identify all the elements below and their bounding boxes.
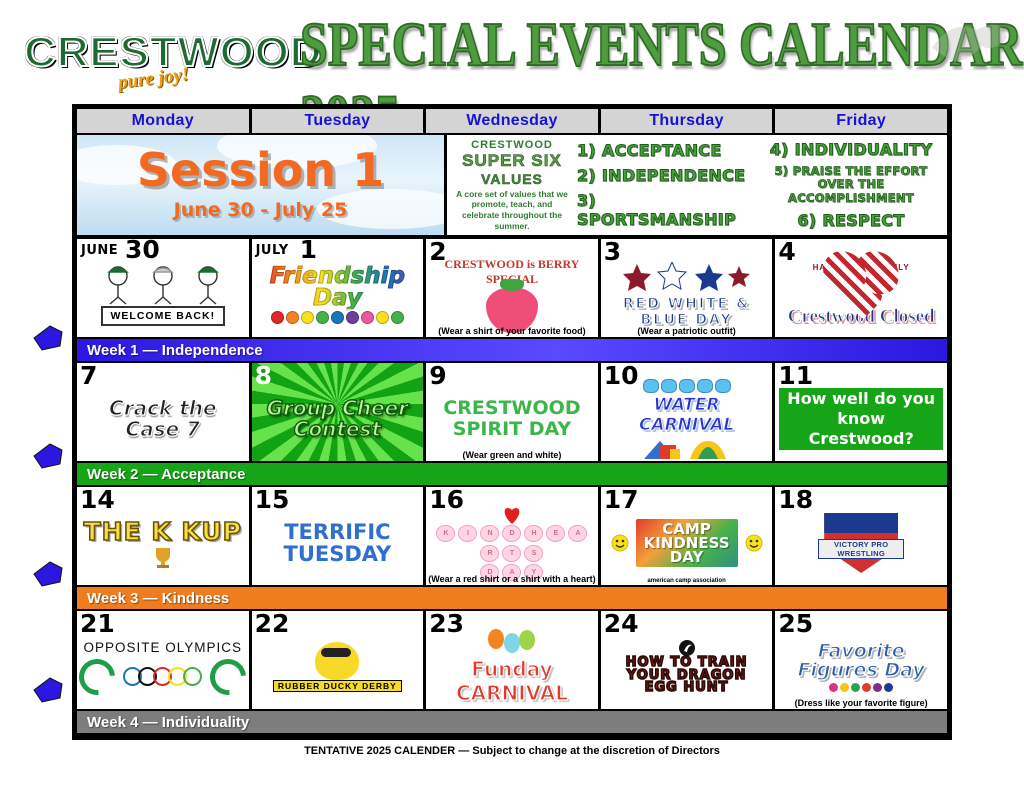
friendship-day-title: Friendship Day (256, 266, 420, 310)
page-header: CRESTWOOD pure joy! SPECIAL EVENTS CALEN… (0, 0, 1024, 100)
week-row-4: 21 OPPOSITE OLYMPICS 22 (75, 611, 949, 709)
day-cell-july-18[interactable]: 18 VICTORY PRO WRESTLING (775, 487, 947, 585)
values-logo-line2: SUPER SIX (453, 151, 571, 171)
column-header-tuesday: Tuesday (252, 109, 424, 133)
day-artwork-group-cheer: Group Cheer Contest (252, 377, 424, 461)
week-band-4: Week 4 — Individuality (77, 711, 947, 733)
day-number: 30 (125, 239, 160, 262)
day-artwork-berry-special: CRESTWOOD is BERRY SPECIAL (426, 253, 598, 337)
recycle-arrow-icon-left (77, 651, 123, 702)
day-artwork-crack-the-case: Crack the Case 7 (77, 377, 249, 461)
side-tag-icon-2 (30, 438, 66, 472)
week-row-2: 7 Crack the Case 7 8 Group Cheer Contest… (75, 363, 949, 461)
day-cell-july-16[interactable]: 16 KIND HEARTS DAY KIND HEAR TS DAY (Wea… (426, 487, 598, 585)
banner-row: Session 1 June 30 - July 25 CRESTWOOD SU… (75, 133, 949, 237)
day-cell-july-22[interactable]: 22 RUBBER DUCKY DERBY (252, 611, 424, 709)
day-number: 14 (80, 487, 115, 512)
week-band-2: Week 2 — Acceptance (77, 463, 947, 485)
day-cell-july-1[interactable]: JULY 1 Friendship Day (252, 239, 424, 337)
side-tag-icon-3 (30, 556, 66, 590)
smiley-icon-left (610, 533, 630, 553)
k-kup-title: THE K KUP (84, 517, 242, 546)
value-item-2: 2) INDEPENDENCE (577, 166, 757, 185)
day-number: 18 (778, 487, 813, 512)
day-note: (Wear a shirt of your favorite food) (426, 326, 598, 336)
day-cell-july-2[interactable]: 2 CRESTWOOD is BERRY SPECIAL (Wear a shi… (426, 239, 598, 337)
values-logo-line1: CRESTWOOD (453, 139, 571, 151)
day-artwork-spirit-day: CRESTWOOD SPIRIT DAY (426, 377, 598, 461)
day-note: (Wear green and white) (426, 450, 598, 460)
day-cell-july-24[interactable]: 24 HOW TO TRAIN YOUR DRAGON EGG HUNT (601, 611, 773, 709)
day-number: 21 (80, 611, 115, 636)
opposite-olympics-title: OPPOSITE OLYMPICS (84, 640, 243, 655)
rubber-duck-icon (315, 642, 359, 680)
week-band-1: Week 1 — Independence (77, 339, 947, 361)
day-number: 22 (255, 611, 290, 636)
calendar-header-row: Monday Tuesday Wednesday Thursday Friday (75, 107, 949, 133)
value-item-5: 5) PRAISE THE EFFORT OVER THE ACCOMPLISH… (761, 165, 941, 205)
wrestling-shield-icon: VICTORY PRO WRESTLING (824, 513, 898, 573)
spirit-day-title: CRESTWOOD SPIRIT DAY (430, 398, 594, 440)
balloons-icon (482, 629, 542, 657)
column-header-thursday: Thursday (601, 109, 773, 133)
day-cell-july-3[interactable]: 3 RED WHITE & BLUE DAY (Wear a patriotic… (601, 239, 773, 337)
week-row-3: 14 THE K KUP 15 TERRIFIC TUESDAY 16 (75, 487, 949, 585)
day-number: 16 (429, 487, 464, 512)
week-band-3: Week 3 — Kindness (77, 587, 947, 609)
day-cell-july-8[interactable]: 8 Group Cheer Contest (252, 363, 424, 461)
ducky-derby-title: RUBBER DUCKY DERBY (273, 680, 402, 692)
day-number: 24 (604, 611, 639, 636)
day-artwork-fourth-of-july: HAPPY 4TH OF JULY Crestwood Closed (775, 253, 947, 337)
day-cell-july-11[interactable]: 11 How well do you know Crestwood? (775, 363, 947, 461)
values-tagline: A core set of values that we promote, te… (453, 189, 571, 232)
smiley-row-icon (271, 311, 404, 324)
terrific-tuesday-title: TERRIFIC TUESDAY (256, 521, 420, 565)
day-number: 17 (604, 487, 639, 512)
day-cell-june-30[interactable]: JUNE 30 WELCOME BACK! (77, 239, 249, 337)
welcome-back-sign: WELCOME BACK! (101, 306, 226, 326)
super-six-values-panel: CRESTWOOD SUPER SIX VALUES A core set of… (447, 135, 947, 235)
column-header-friday: Friday (775, 109, 947, 133)
week-row-1: JUNE 30 WELCOME BACK! JULY 1 (75, 239, 949, 337)
value-item-1: 1) ACCEPTANCE (577, 141, 757, 160)
camp-kindness-card: CAMP KINDNESS DAY (636, 519, 738, 568)
values-logo-line3: VALUES (453, 171, 571, 187)
group-cheer-title: Group Cheer Contest (256, 398, 420, 440)
day-number: 25 (778, 611, 813, 636)
day-number: 11 (778, 363, 813, 388)
stick-figures-icon (88, 264, 238, 306)
day-note: american camp association (601, 578, 773, 584)
calendar-grid: Monday Tuesday Wednesday Thursday Friday… (72, 104, 952, 740)
footer-disclaimer: TENTATIVE 2025 CALENDER — Subject to cha… (0, 745, 1024, 757)
day-number: 15 (255, 487, 290, 512)
side-tag-icon-1 (30, 320, 66, 354)
camp-kindness-title: CAMP KINDNESS DAY (644, 522, 730, 565)
day-number: 10 (604, 363, 639, 388)
paint-splat-icon (922, 8, 1012, 78)
day-cell-july-25[interactable]: 25 Favorite Figures Day (Dress like your… (775, 611, 947, 709)
session-title: Session 1 (77, 143, 444, 197)
day-month-label: JULY (256, 243, 289, 258)
recycle-arrow-icon-right (203, 651, 249, 702)
column-header-wednesday: Wednesday (426, 109, 598, 133)
know-crestwood-title: How well do you know Crestwood? (779, 388, 943, 450)
side-tag-icon-4 (30, 672, 66, 706)
column-header-monday: Monday (77, 109, 249, 133)
day-number: 9 (429, 363, 446, 388)
day-month-label: JUNE (81, 243, 118, 258)
olympic-rings-icon (123, 667, 202, 686)
day-cell-july-9[interactable]: 9 CRESTWOOD SPIRIT DAY (Wear green and w… (426, 363, 598, 461)
value-item-4: 4) INDIVIDUALITY (761, 140, 941, 159)
day-cell-july-15[interactable]: 15 TERRIFIC TUESDAY (252, 487, 424, 585)
heart-icon (501, 505, 523, 525)
day-note: (Dress like your favorite figure) (775, 698, 947, 708)
carnival-title: Funday CARNIVAL (430, 657, 594, 705)
favorite-figures-title: Favorite Figures Day (779, 642, 943, 680)
crack-the-case-title: Crack the Case 7 (81, 398, 245, 440)
day-cell-july-14[interactable]: 14 THE K KUP (77, 487, 249, 585)
day-cell-july-4[interactable]: 4 HAPPY 4TH OF JULY Crestwood Closed (775, 239, 947, 337)
value-item-3: 3) SPORTSMANSHIP (577, 191, 757, 229)
day-cell-july-23[interactable]: 23 Funday CARNIVAL (426, 611, 598, 709)
smiley-icon-right (744, 533, 764, 553)
red-white-blue-title: RED WHITE & BLUE DAY (605, 296, 769, 328)
day-cell-july-10[interactable]: 10 WATER CARNIVAL (601, 363, 773, 461)
day-number: 4 (778, 239, 795, 264)
water-splash-icons (643, 379, 731, 393)
day-artwork-red-white-blue: RED WHITE & BLUE DAY (601, 253, 773, 337)
day-cell-july-17[interactable]: 17 CAMP KINDNESS DAY american camp assoc… (601, 487, 773, 585)
day-number: 3 (604, 239, 621, 264)
day-artwork-friendship-day: Friendship Day (252, 253, 424, 337)
wrestling-title: VICTORY PRO WRESTLING (818, 539, 904, 559)
day-note: (Wear a patriotic outfit) (601, 326, 773, 336)
day-note: (Wear a red shirt or a shirt with a hear… (426, 574, 598, 584)
figure-dots-icon (829, 683, 893, 692)
values-list: 1) ACCEPTANCE 2) INDEPENDENCE 3) SPORTSM… (577, 140, 941, 230)
session-banner: Session 1 June 30 - July 25 (77, 135, 444, 235)
day-number: 2 (429, 239, 446, 264)
session-dates: June 30 - July 25 (77, 199, 444, 221)
day-number: 1 (300, 239, 317, 262)
crestwood-logo: CRESTWOOD pure joy! (30, 28, 317, 76)
stars-icon (617, 262, 757, 296)
trophy-icon (150, 546, 176, 570)
day-cell-july-21[interactable]: 21 OPPOSITE OLYMPICS (77, 611, 249, 709)
super-six-logo: CRESTWOOD SUPER SIX VALUES A core set of… (453, 139, 571, 232)
water-carnival-title: WATER CARNIVAL (605, 395, 769, 435)
bounce-house-icon (642, 435, 732, 461)
day-number: 23 (429, 611, 464, 636)
day-cell-july-7[interactable]: 7 Crack the Case 7 (77, 363, 249, 461)
day-number: 8 (255, 363, 272, 388)
day-artwork-welcome-back: WELCOME BACK! (77, 253, 249, 337)
dragon-egg-hunt-title: HOW TO TRAIN YOUR DRAGON EGG HUNT (612, 657, 762, 694)
day-number: 7 (80, 363, 97, 388)
value-item-6: 6) RESPECT (761, 211, 941, 230)
candy-hearts-icon: KIND HEAR TS (430, 525, 594, 562)
